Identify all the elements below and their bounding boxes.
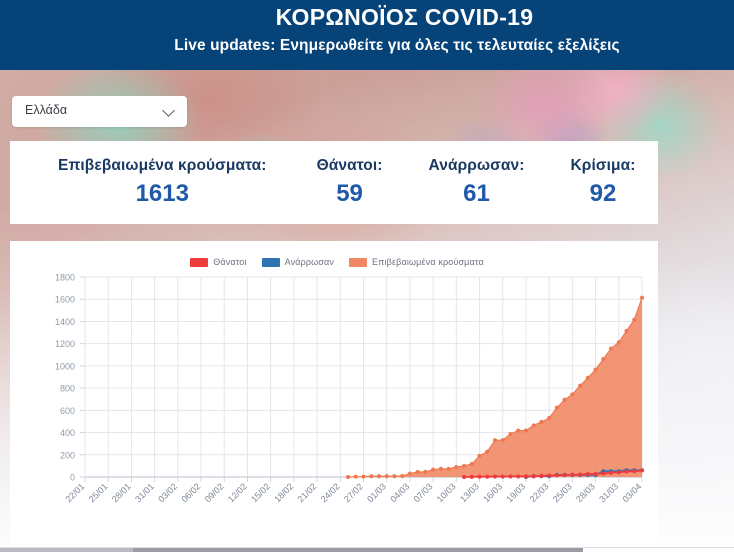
covid-cumulative-area-chart: 02004006008001000120014001600180022/0125… [10, 267, 658, 543]
horizontal-scroll-thumb[interactable] [133, 548, 583, 552]
stat-confirmed-cases-value: 1613 [58, 180, 267, 208]
stat-recovered-label: Ανάρρωσαν: [429, 157, 525, 175]
svg-text:03/02: 03/02 [156, 481, 179, 504]
svg-text:22/03: 22/03 [528, 481, 551, 504]
stat-confirmed-cases: Επιβεβαιωμένα κρούσματα: 1613 [44, 157, 281, 208]
svg-text:1400: 1400 [55, 317, 75, 327]
page-subtitle: Live updates: Ενημερωθείτε για όλες τις … [0, 37, 734, 55]
svg-text:28/03: 28/03 [574, 481, 597, 504]
chart-card: Θάνατοι Ανάρρωσαν Επιβεβαιωμένα κρούσματ… [10, 241, 658, 543]
country-select-value: Ελλάδα [25, 103, 67, 117]
svg-text:01/03: 01/03 [365, 481, 388, 504]
page-root: ΚΟΡΩΝΟΪΟΣ COVID-19 Live updates: Ενημερω… [0, 0, 734, 557]
legend-item-confirmed[interactable]: Επιβεβαιωμένα κρούσματα [349, 257, 484, 267]
legend-label-recovered: Ανάρρωσαν [285, 257, 334, 267]
stat-confirmed-cases-label: Επιβεβαιωμένα κρούσματα: [58, 157, 267, 175]
svg-text:27/02: 27/02 [342, 481, 365, 504]
horizontal-scrollbar[interactable] [0, 547, 734, 557]
chart-legend: Θάνατοι Ανάρρωσαν Επιβεβαιωμένα κρούσματ… [10, 257, 658, 267]
svg-text:24/02: 24/02 [319, 481, 342, 504]
stat-critical-label: Κρίσιμα: [570, 157, 635, 175]
svg-text:28/01: 28/01 [110, 481, 133, 504]
svg-text:22/01: 22/01 [63, 481, 86, 504]
stat-critical-value: 92 [570, 180, 635, 208]
svg-text:1800: 1800 [55, 273, 75, 283]
svg-text:15/02: 15/02 [249, 481, 272, 504]
svg-text:09/02: 09/02 [203, 481, 226, 504]
legend-swatch-confirmed [349, 258, 367, 267]
legend-swatch-recovered [262, 258, 280, 267]
legend-item-recovered[interactable]: Ανάρρωσαν [262, 257, 334, 267]
stat-deaths-value: 59 [317, 180, 383, 208]
svg-text:31/01: 31/01 [133, 481, 156, 504]
svg-text:10/03: 10/03 [435, 481, 458, 504]
stat-deaths: Θάνατοι: 59 [303, 157, 397, 208]
svg-text:13/03: 13/03 [458, 481, 481, 504]
legend-item-deaths[interactable]: Θάνατοι [190, 257, 246, 267]
chevron-down-icon [162, 104, 175, 117]
page-header: ΚΟΡΩΝΟΪΟΣ COVID-19 Live updates: Ενημερω… [0, 0, 734, 70]
svg-text:12/02: 12/02 [226, 481, 249, 504]
svg-text:600: 600 [60, 406, 75, 416]
svg-text:200: 200 [60, 450, 75, 460]
svg-text:16/03: 16/03 [481, 481, 504, 504]
stat-deaths-label: Θάνατοι: [317, 157, 383, 175]
svg-text:1600: 1600 [55, 295, 75, 305]
svg-text:25/03: 25/03 [551, 481, 574, 504]
stat-recovered-value: 61 [429, 180, 525, 208]
stats-card: Επιβεβαιωμένα κρούσματα: 1613 Θάνατοι: 5… [10, 141, 658, 224]
svg-text:18/02: 18/02 [272, 481, 295, 504]
chart-plot-area[interactable]: 02004006008001000120014001600180022/0125… [10, 267, 658, 543]
svg-text:19/03: 19/03 [504, 481, 527, 504]
country-select[interactable]: Ελλάδα [12, 96, 187, 127]
legend-label-confirmed: Επιβεβαιωμένα κρούσματα [372, 257, 484, 267]
legend-swatch-deaths [190, 258, 208, 267]
svg-text:21/02: 21/02 [295, 481, 318, 504]
stat-critical: Κρίσιμα: 92 [556, 157, 649, 208]
svg-text:04/03: 04/03 [388, 481, 411, 504]
scroll-track-left [0, 548, 133, 552]
svg-text:07/03: 07/03 [412, 481, 435, 504]
svg-text:31/03: 31/03 [597, 481, 620, 504]
svg-text:03/04: 03/04 [620, 481, 643, 504]
page-title: ΚΟΡΩΝΟΪΟΣ COVID-19 [0, 4, 734, 31]
legend-label-deaths: Θάνατοι [213, 257, 246, 267]
stat-recovered: Ανάρρωσαν: 61 [415, 157, 539, 208]
svg-text:1200: 1200 [55, 339, 75, 349]
svg-text:0: 0 [70, 473, 75, 483]
svg-text:06/02: 06/02 [179, 481, 202, 504]
svg-text:25/01: 25/01 [87, 481, 110, 504]
svg-text:800: 800 [60, 384, 75, 394]
svg-text:400: 400 [60, 428, 75, 438]
svg-text:1000: 1000 [55, 361, 75, 371]
